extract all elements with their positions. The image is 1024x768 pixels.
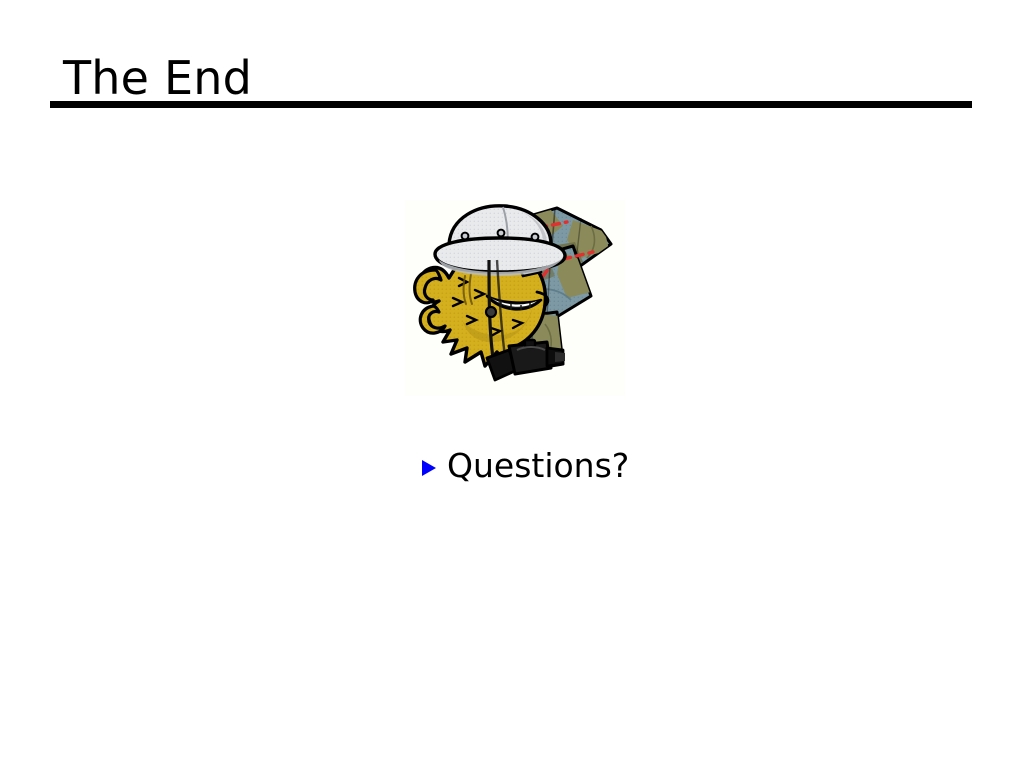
bullet-label: Questions?: [447, 446, 629, 486]
bullet-item-questions: Questions?: [422, 446, 629, 486]
title-underline-rule: [50, 101, 972, 108]
puffy-tourist-illustration: [405, 200, 625, 396]
slide: The End: [0, 0, 1024, 768]
puffy-tourist-image: [405, 200, 625, 396]
page-title: The End: [63, 52, 252, 104]
triangle-right-bullet-icon: [422, 460, 436, 476]
